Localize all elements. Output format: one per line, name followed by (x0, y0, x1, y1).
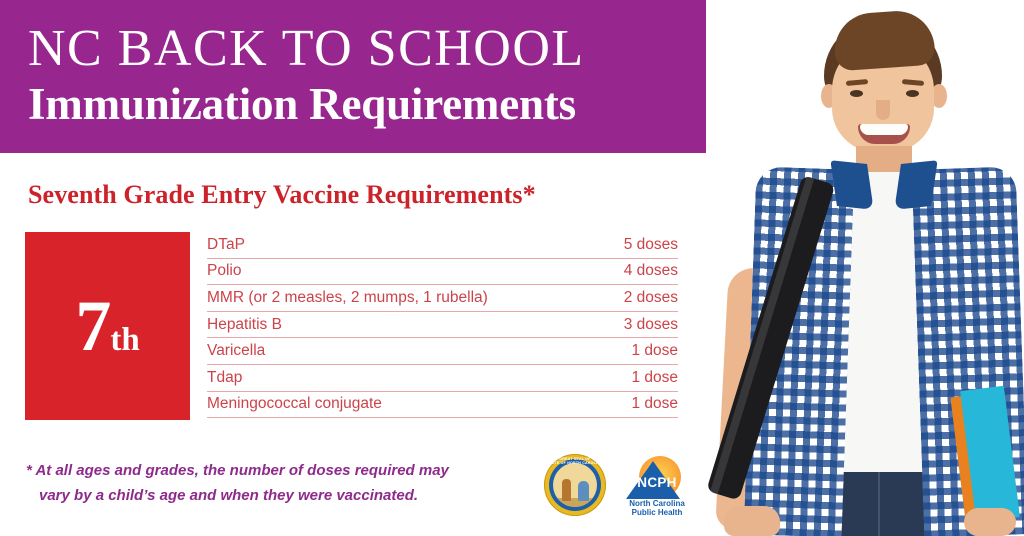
photo-nose (876, 100, 890, 120)
vaccine-name: MMR (or 2 measles, 2 mumps, 1 rubella) (207, 289, 488, 307)
ncph-caption-line-2: Public Health (632, 508, 683, 517)
header-band: NC BACK TO SCHOOL Immunization Requireme… (0, 0, 706, 153)
seal-ring-text: THE GREAT SEAL OF THE STATE OF NORTH CAR… (544, 457, 606, 465)
north-carolina-state-seal-icon: THE GREAT SEAL OF THE STATE OF NORTH CAR… (544, 454, 606, 516)
ncph-caption-line-1: North Carolina (629, 499, 685, 508)
section-heading: Seventh Grade Entry Vaccine Requirements… (28, 180, 536, 210)
seal-figure-liberty (562, 479, 571, 501)
seal-ground (553, 498, 597, 507)
table-row: Hepatitis B 3 doses (207, 312, 678, 339)
student-photo (706, 0, 1024, 536)
table-row: DTaP 5 doses (207, 232, 678, 259)
footnote-line-1: * At all ages and grades, the number of … (26, 458, 536, 483)
photo-hand-left (724, 506, 780, 536)
vaccine-doses: 5 doses (624, 236, 678, 254)
photo-collar-left (830, 160, 873, 210)
grade-badge-inner: 7th (25, 290, 190, 362)
vaccine-name: Meningococcal conjugate (207, 395, 382, 413)
photo-eye-right (906, 90, 919, 97)
vaccine-doses: 4 doses (624, 262, 678, 280)
photo-teeth (860, 124, 908, 135)
photo-hand-right (964, 508, 1016, 536)
ncph-acronym: NCPH (620, 475, 694, 490)
photo-mouth (858, 124, 910, 144)
vaccine-doses: 2 doses (624, 289, 678, 307)
page-title-line2: Immunization Requirements (28, 79, 576, 129)
seal-figure-plenty (578, 481, 589, 501)
vaccine-name: Tdap (207, 369, 242, 387)
footnote-line-2: vary by a child’s age and when they were… (26, 483, 536, 508)
table-row: Tdap 1 dose (207, 365, 678, 392)
vaccine-doses: 1 dose (631, 395, 678, 413)
ncph-caption: North Carolina Public Health (620, 499, 694, 517)
vaccine-name: DTaP (207, 236, 245, 254)
grade-number: 7 (75, 286, 110, 366)
photo-hair-front (832, 9, 936, 72)
page-title-line1: NC BACK TO SCHOOL (28, 22, 585, 76)
infographic-poster: NC BACK TO SCHOOL Immunization Requireme… (0, 0, 1024, 536)
vaccine-doses: 3 doses (624, 316, 678, 334)
vaccine-name: Hepatitis B (207, 316, 282, 334)
table-row: Polio 4 doses (207, 259, 678, 286)
vaccine-requirements-table: DTaP 5 doses Polio 4 doses MMR (or 2 mea… (207, 232, 678, 418)
vaccine-doses: 1 dose (631, 369, 678, 387)
photo-collar-right (894, 160, 937, 210)
vaccine-doses: 1 dose (631, 342, 678, 360)
grade-badge: 7th (25, 232, 190, 420)
footnote: * At all ages and grades, the number of … (26, 458, 536, 508)
vaccine-name: Polio (207, 262, 241, 280)
logo-group: THE GREAT SEAL OF THE STATE OF NORTH CAR… (544, 452, 694, 518)
table-row: MMR (or 2 measles, 2 mumps, 1 rubella) 2… (207, 285, 678, 312)
table-row: Meningococcal conjugate 1 dose (207, 392, 678, 419)
table-row: Varicella 1 dose (207, 338, 678, 365)
grade-ordinal-suffix: th (110, 322, 139, 358)
photo-eye-left (850, 90, 863, 97)
vaccine-name: Varicella (207, 342, 265, 360)
nc-public-health-logo-icon: NCPH North Carolina Public Health (620, 455, 694, 515)
seal-vignette (553, 463, 597, 507)
